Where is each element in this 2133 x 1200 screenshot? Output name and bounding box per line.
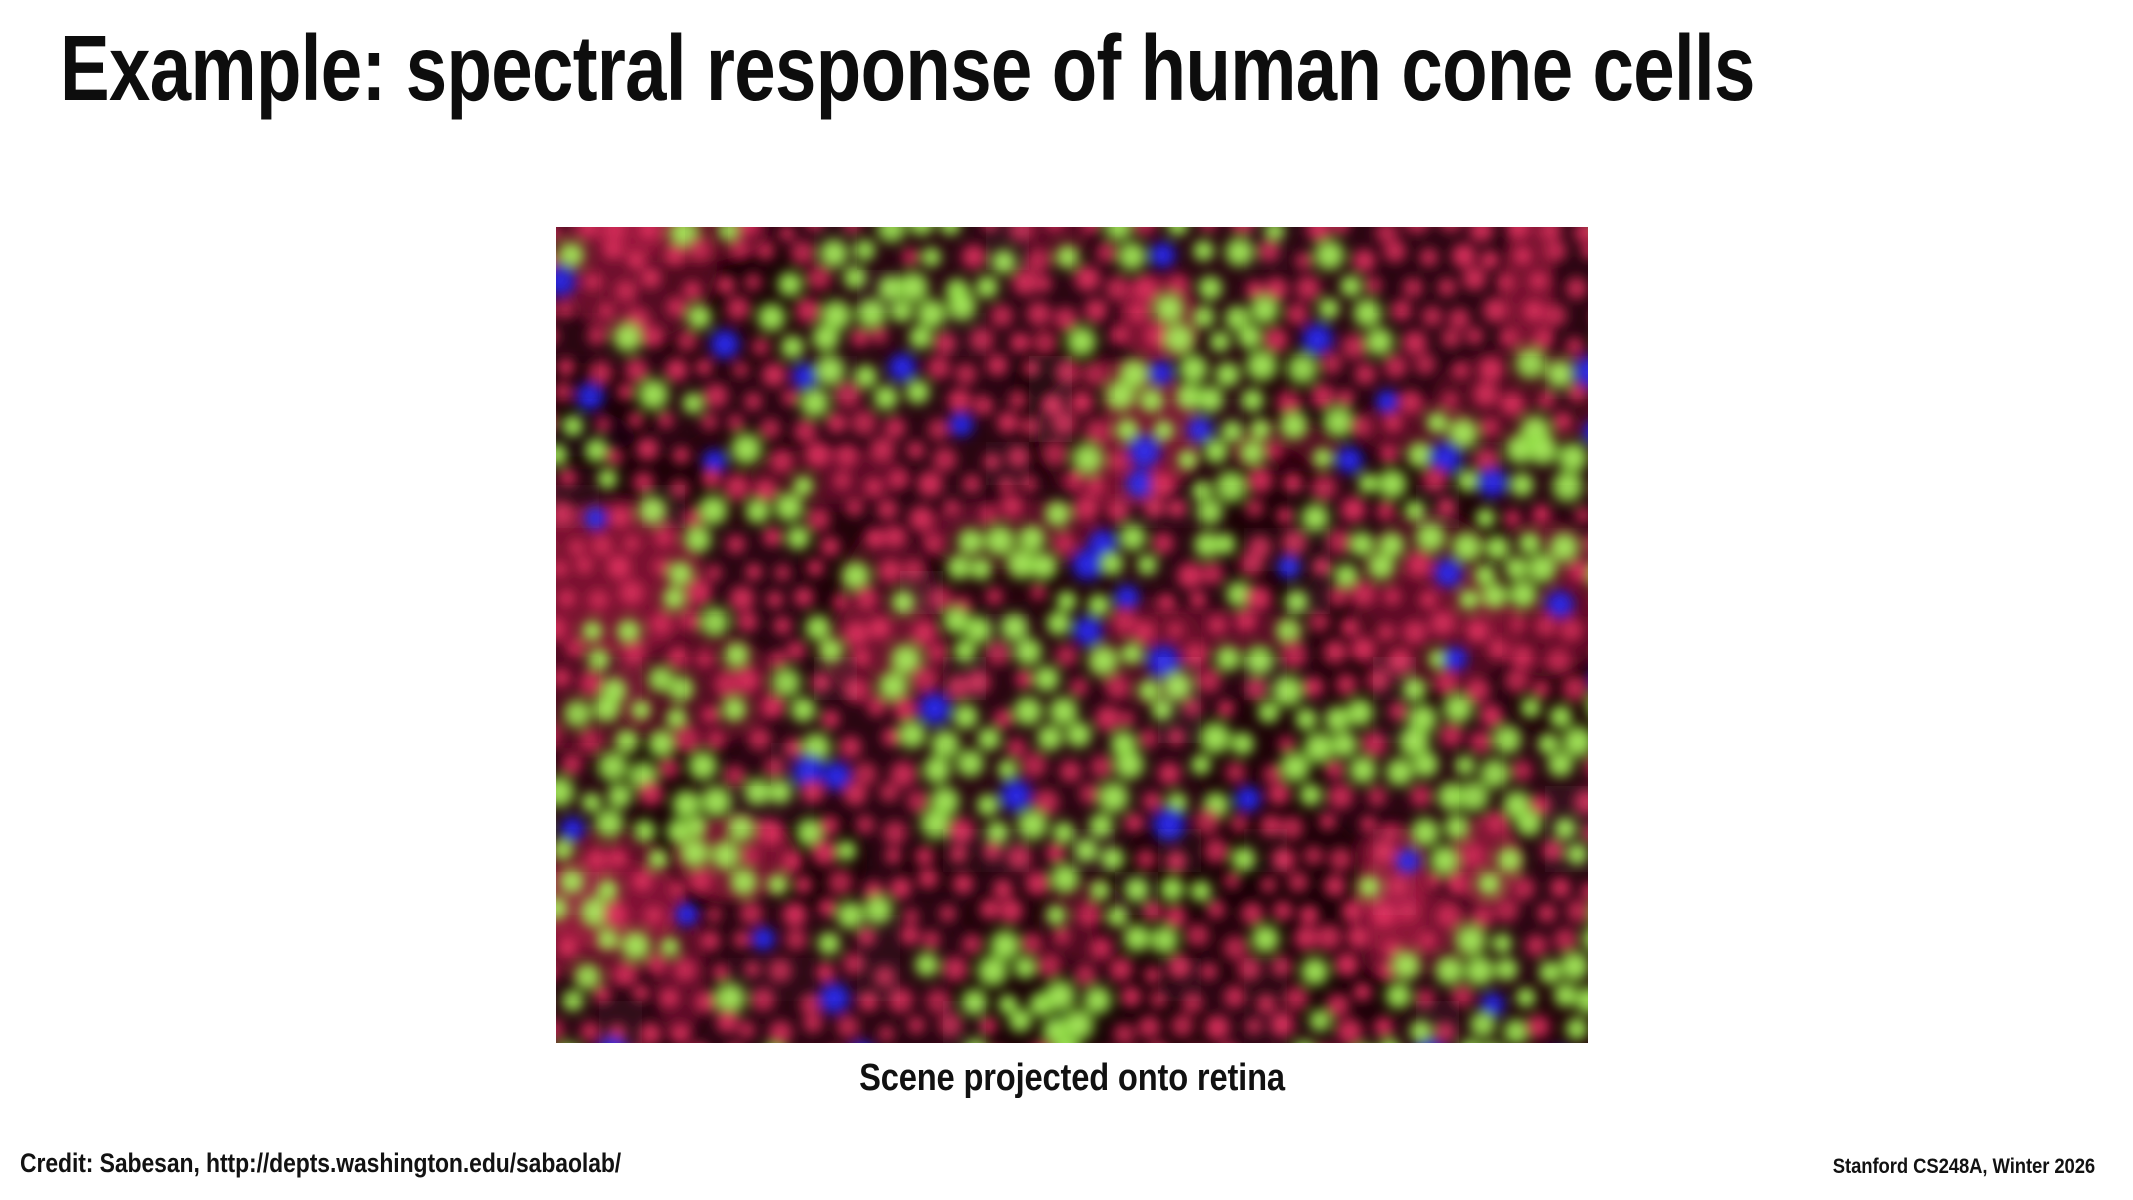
footer-credit: Credit: Sabesan, http://depts.washington… xyxy=(20,1148,621,1179)
figure-caption: Scene projected onto retina xyxy=(628,1057,1516,1100)
slide-canvas: Example: spectral response of human cone… xyxy=(0,0,2133,1200)
footer-course-label: Stanford CS248A, Winter 2026 xyxy=(1833,1155,2095,1179)
page-title: Example: spectral response of human cone… xyxy=(60,18,1660,118)
retinal-cone-mosaic-image xyxy=(556,227,1588,1043)
retina-figure xyxy=(556,227,1588,1043)
